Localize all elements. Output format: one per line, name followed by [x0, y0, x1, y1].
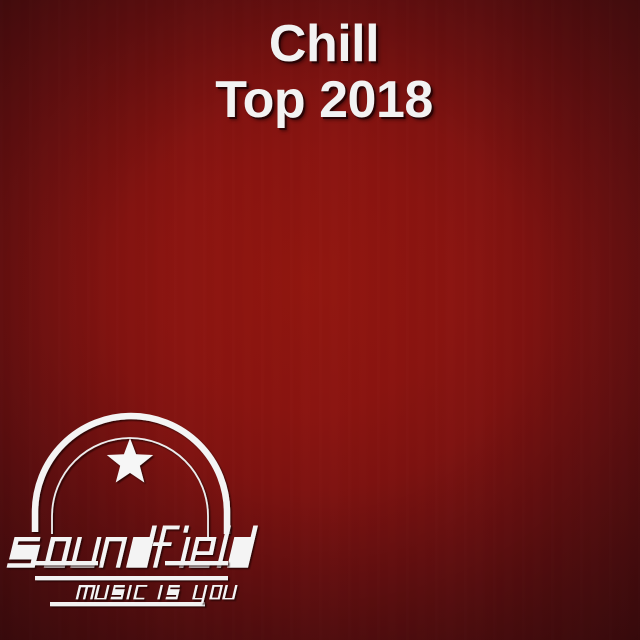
soundfield-logo	[0, 404, 290, 619]
album-title: Chill Top 2018	[0, 16, 640, 128]
album-title-line-1: Chill	[4, 16, 640, 72]
logo-divider-long	[35, 576, 228, 580]
logo-divider-bottom	[50, 602, 205, 606]
album-cover: Chill Top 2018	[0, 0, 640, 640]
star-icon	[107, 438, 153, 483]
album-title-line-2: Top 2018	[4, 72, 640, 128]
logo-tagline	[76, 585, 238, 603]
